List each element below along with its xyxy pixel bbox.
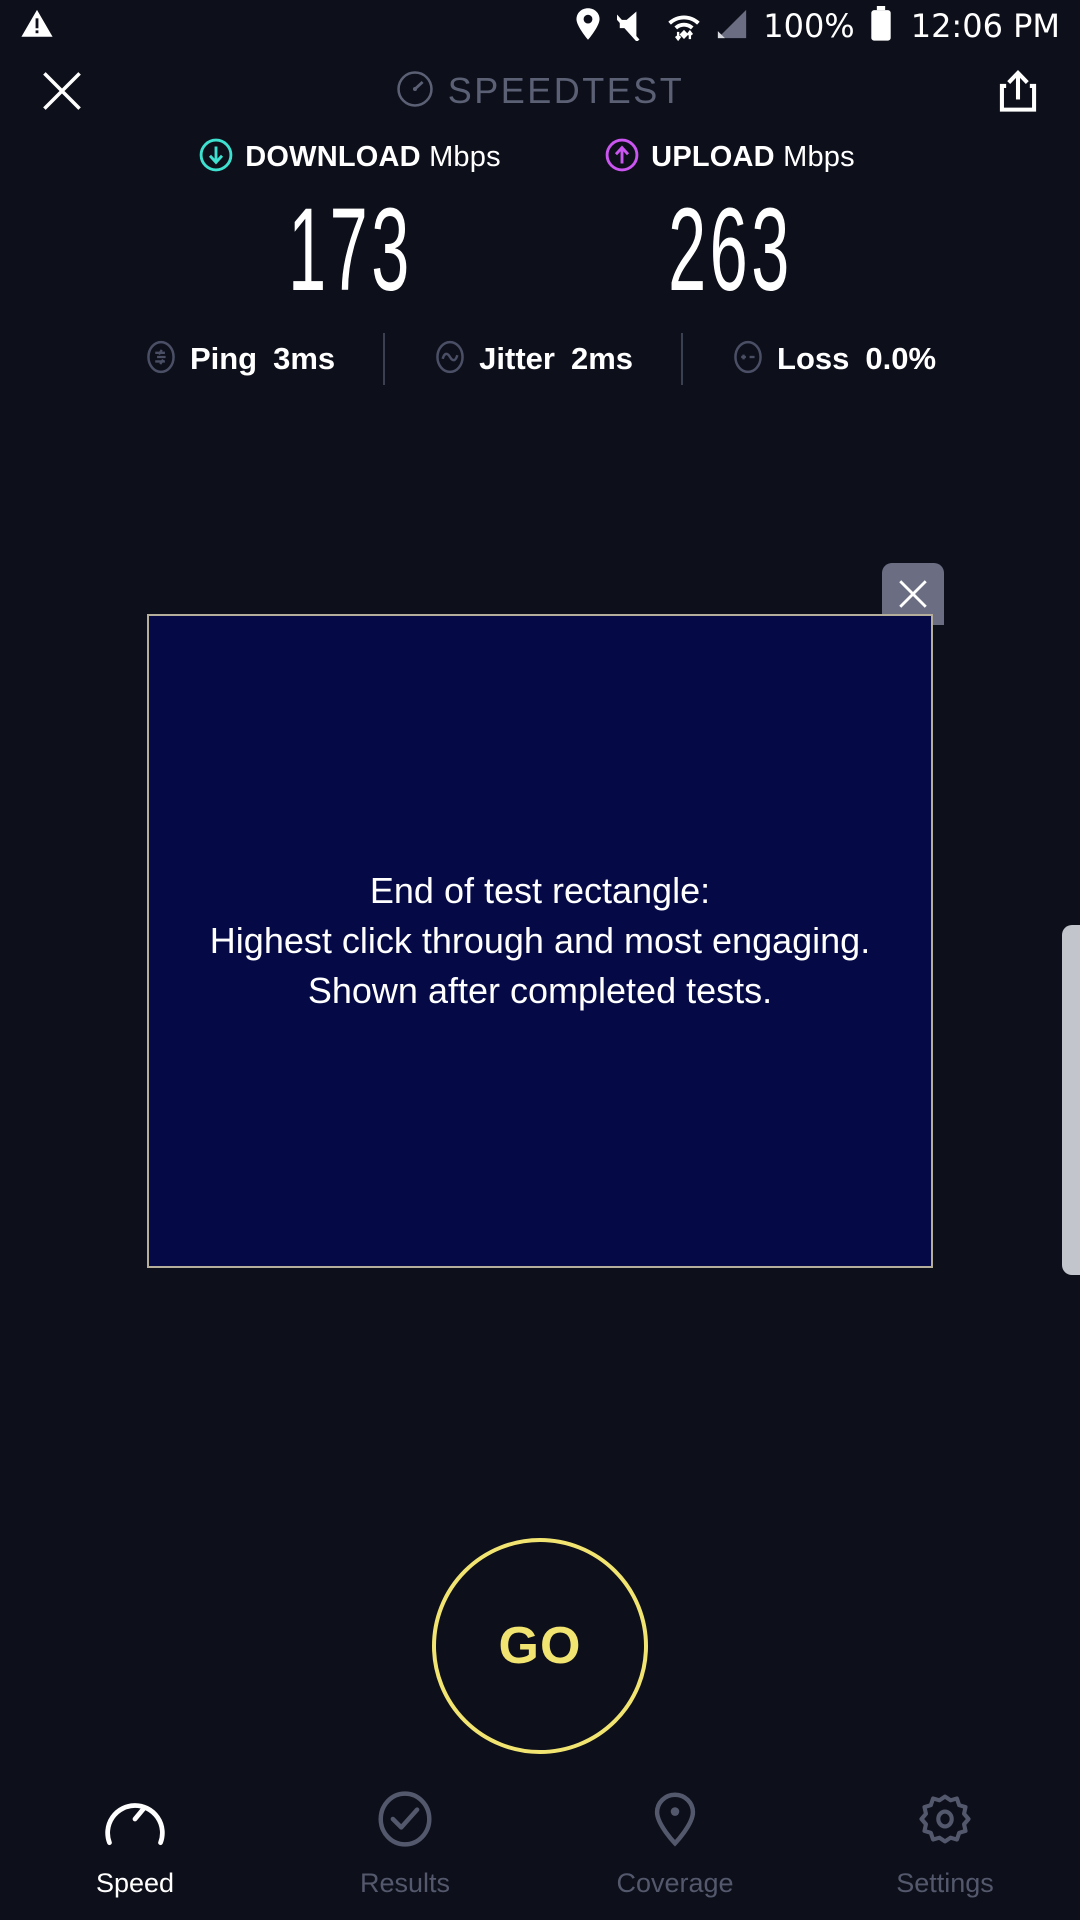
close-icon [896, 577, 930, 611]
cellular-signal-icon [715, 8, 749, 45]
nav-label-speed: Speed [96, 1868, 174, 1899]
ping-value: 3ms [273, 341, 335, 377]
ping-metric: Ping 3ms [144, 340, 335, 379]
loss-value: 0.0% [865, 341, 936, 377]
close-button[interactable] [34, 63, 90, 119]
loss-label: Loss [777, 341, 849, 377]
ad-line-2: Highest click through and most engaging. [210, 916, 870, 966]
upload-label-row: UPLOAD Mbps [605, 138, 855, 177]
arrow-down-circle-icon [199, 138, 233, 177]
loss-metric: Loss 0.0% [731, 340, 936, 379]
download-label-row: DOWNLOAD Mbps [199, 138, 501, 177]
advertisement-banner[interactable]: End of test rectangle: Highest click thr… [147, 614, 933, 1268]
upload-label: UPLOAD Mbps [651, 141, 855, 174]
go-button-label: GO [499, 1616, 582, 1676]
nav-label-results: Results [360, 1868, 450, 1899]
scrollbar-thumb[interactable] [1062, 925, 1080, 1275]
nav-item-coverage[interactable]: Coverage [540, 1791, 810, 1899]
download-label: DOWNLOAD Mbps [245, 141, 501, 174]
jitter-label: Jitter [479, 341, 555, 377]
go-button[interactable]: GO [432, 1538, 648, 1754]
check-circle-icon [374, 1791, 436, 1852]
divider [681, 333, 683, 385]
ad-line-1: End of test rectangle: [210, 866, 870, 916]
ad-line-3: Shown after completed tests. [210, 966, 870, 1016]
upload-metric: UPLOAD Mbps 263 [540, 138, 920, 309]
jitter-value: 2ms [571, 341, 633, 377]
upload-value: 263 [668, 191, 793, 309]
status-bar-left [20, 7, 54, 46]
ping-jitter-loss-row: Ping 3ms Jitter 2ms [0, 333, 1080, 385]
share-button[interactable] [990, 63, 1046, 119]
download-metric: DOWNLOAD Mbps 173 [160, 138, 540, 309]
download-value: 173 [288, 191, 413, 309]
battery-percent-label: 100% [763, 7, 854, 45]
status-bar-right: 100% 12:06 PM [573, 6, 1060, 47]
speedometer-icon [396, 70, 434, 113]
nav-item-speed[interactable]: Speed [0, 1791, 270, 1899]
location-pin-icon [644, 1791, 706, 1852]
ping-icon [144, 340, 178, 379]
nav-label-settings: Settings [896, 1868, 994, 1899]
nav-label-coverage: Coverage [616, 1868, 733, 1899]
warning-triangle-icon [20, 7, 54, 46]
gear-icon [914, 1791, 976, 1852]
status-bar: 100% 12:06 PM [0, 0, 1080, 52]
ping-label: Ping [190, 341, 257, 377]
ad-text: End of test rectangle: Highest click thr… [210, 866, 870, 1015]
results-panel: DOWNLOAD Mbps 173 UPLOAD Mbps 263 [0, 138, 1080, 385]
wifi-icon [667, 6, 701, 47]
close-icon [40, 69, 84, 113]
nav-item-results[interactable]: Results [270, 1791, 540, 1899]
speedometer-icon [104, 1791, 166, 1852]
app-header: SPEEDTEST [0, 52, 1080, 130]
location-pin-icon [573, 7, 603, 46]
volume-mute-icon [617, 7, 653, 46]
jitter-icon [433, 340, 467, 379]
nav-item-settings[interactable]: Settings [810, 1791, 1080, 1899]
loss-icon [731, 340, 765, 379]
arrow-up-circle-icon [605, 138, 639, 177]
page-title-text: SPEEDTEST [448, 70, 685, 112]
jitter-metric: Jitter 2ms [433, 340, 633, 379]
page-title: SPEEDTEST [0, 70, 1080, 113]
share-icon [996, 69, 1040, 113]
battery-full-icon [869, 6, 893, 47]
divider [383, 333, 385, 385]
status-bar-clock: 12:06 PM [911, 7, 1060, 45]
download-upload-row: DOWNLOAD Mbps 173 UPLOAD Mbps 263 [0, 138, 1080, 309]
bottom-navigation: Speed Results Coverage Settings [0, 1770, 1080, 1920]
